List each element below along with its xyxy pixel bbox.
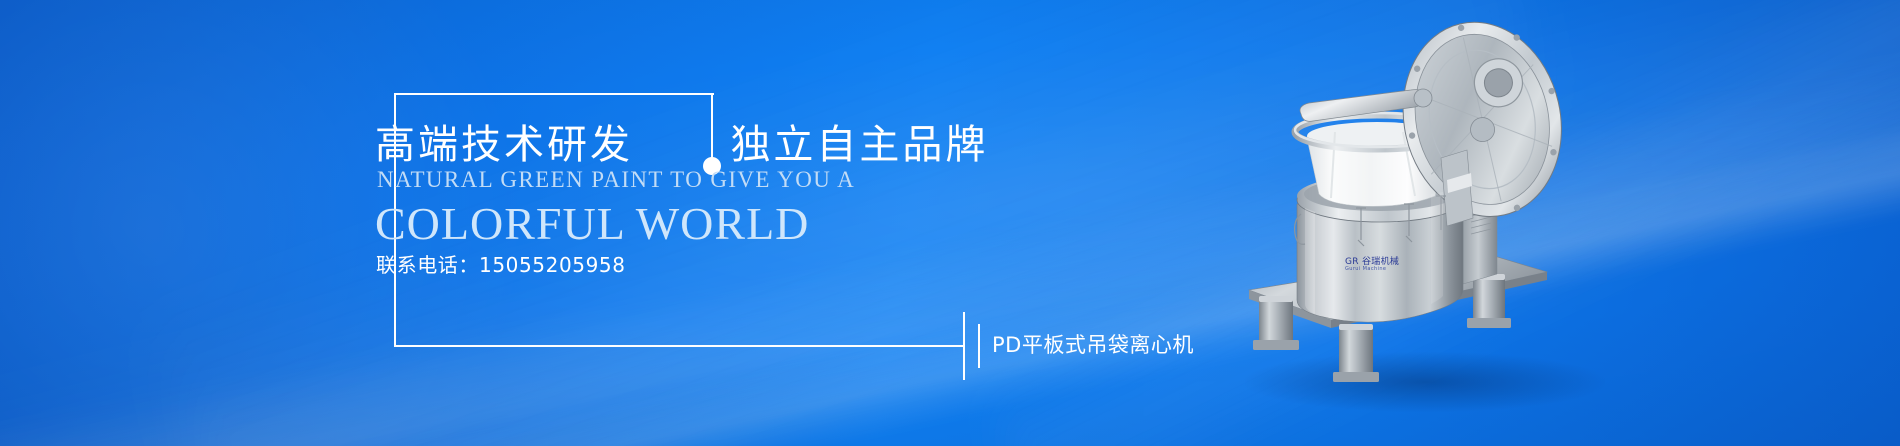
product-caption-text: PD平板式吊袋离心机 xyxy=(992,329,1194,359)
headline-left-text: 高端技术研发 xyxy=(375,122,633,168)
background-streak-bright xyxy=(0,30,1900,446)
background-streak-soft-upper xyxy=(0,0,1900,446)
bracket-bottom-line xyxy=(394,345,965,347)
tagline-line-2: COLORFUL WORLD xyxy=(375,197,809,250)
background-vignette xyxy=(0,0,1900,446)
headline-right-text: 独立自主品牌 xyxy=(730,122,988,168)
headline: 高端技术研发 独立自主品牌 xyxy=(375,112,988,170)
product-image-centrifuge xyxy=(1235,8,1615,438)
bracket-top-line xyxy=(394,93,714,95)
background-streak-wide xyxy=(0,3,1900,446)
caption-tall-tick xyxy=(963,312,965,380)
caption-short-tick xyxy=(978,324,980,368)
tagline-line-1: NATURAL GREEN PAINT TO GIVE YOU A xyxy=(377,167,855,193)
promo-banner: 高端技术研发 独立自主品牌 NATURAL GREEN PAINT TO GIV… xyxy=(0,0,1900,446)
contact-phone-text: 联系电话：15055205958 xyxy=(376,249,626,278)
machine-hinge xyxy=(1441,150,1473,226)
